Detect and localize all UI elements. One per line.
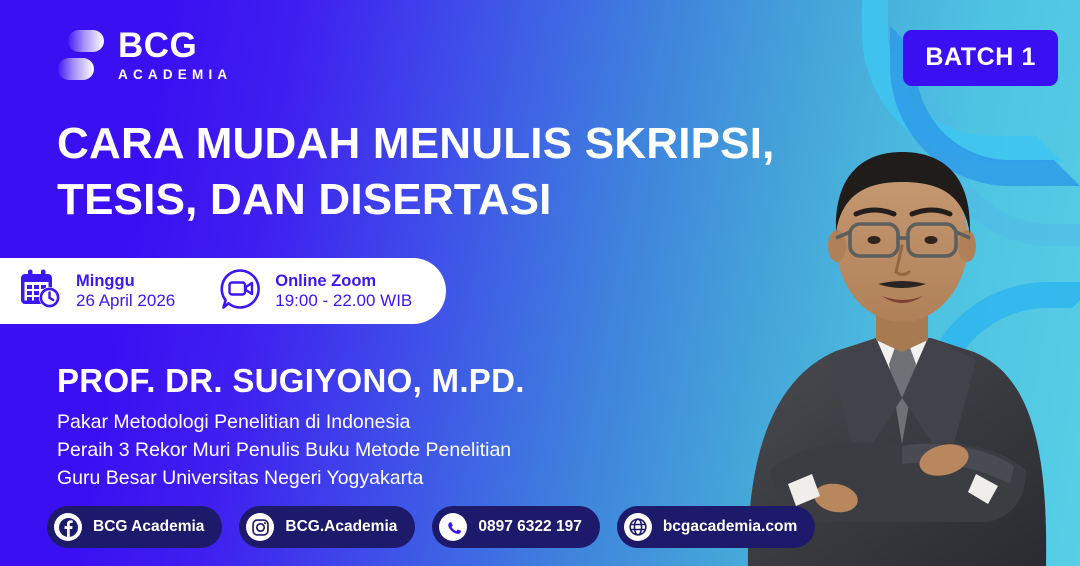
credential-line: Pakar Metodologi Penelitian di Indonesia — [57, 409, 525, 437]
speaker-name: PROF. DR. SUGIYONO, M.PD. — [57, 363, 525, 399]
contact-pill-list: BCG Academia BCG.Academia 0897 6322 197 — [47, 506, 815, 548]
speaker-credentials: Pakar Metodologi Penelitian di Indonesia… — [57, 409, 525, 492]
event-date-text: Minggu 26 April 2026 — [76, 271, 175, 312]
bcg-b-mark-icon — [58, 29, 104, 81]
event-platform-text: Online Zoom 19:00 - 22.00 WIB — [275, 271, 412, 312]
title-line-1: CARA MUDAH MENULIS SKRIPSI, — [57, 116, 757, 172]
event-date-block: Minggu 26 April 2026 — [18, 268, 175, 315]
logo-brand-sub: ACADEMIA — [118, 68, 232, 82]
contact-pill-website[interactable]: bcgacademia.com — [617, 506, 815, 548]
credential-line: Guru Besar Universitas Negeri Yogyakarta — [57, 465, 525, 493]
contact-label: bcgacademia.com — [663, 518, 797, 536]
page-title: CARA MUDAH MENULIS SKRIPSI, TESIS, DAN D… — [57, 116, 757, 229]
contact-label: BCG Academia — [93, 518, 204, 536]
event-date: 26 April 2026 — [76, 291, 175, 312]
facebook-icon — [54, 513, 82, 541]
credential-line: Peraih 3 Rekor Muri Penulis Buku Metode … — [57, 437, 525, 465]
contact-pill-facebook[interactable]: BCG Academia — [47, 506, 222, 548]
speaker-block: PROF. DR. SUGIYONO, M.PD. Pakar Metodolo… — [57, 363, 525, 492]
contact-label: BCG.Academia — [285, 518, 397, 536]
title-line-2: TESIS, DAN DISERTASI — [57, 172, 757, 228]
speaker-portrait-photo — [726, 46, 1056, 566]
video-camera-bubble-icon — [219, 268, 261, 315]
logo-wordmark: BCG ACADEMIA — [118, 28, 232, 82]
event-platform-block: Online Zoom 19:00 - 22.00 WIB — [219, 268, 412, 315]
event-time: 19:00 - 22.00 WIB — [275, 291, 412, 312]
instagram-icon — [246, 513, 274, 541]
batch-badge: BATCH 1 — [903, 30, 1058, 86]
logo-brand-name: BCG — [118, 28, 232, 63]
event-platform-name: Online Zoom — [275, 271, 412, 291]
globe-icon — [624, 513, 652, 541]
event-details-pill: Minggu 26 April 2026 Online Zoom 19:00 -… — [0, 258, 446, 324]
whatsapp-phone-icon — [439, 513, 467, 541]
contact-pill-instagram[interactable]: BCG.Academia — [239, 506, 415, 548]
promotional-banner: BCG ACADEMIA BATCH 1 CARA MUDAH MENULIS … — [0, 0, 1080, 566]
event-day: Minggu — [76, 271, 175, 291]
calendar-clock-icon — [18, 268, 62, 315]
contact-label: 0897 6322 197 — [478, 518, 581, 536]
bcg-academia-logo: BCG ACADEMIA — [58, 28, 232, 82]
contact-pill-phone[interactable]: 0897 6322 197 — [432, 506, 599, 548]
